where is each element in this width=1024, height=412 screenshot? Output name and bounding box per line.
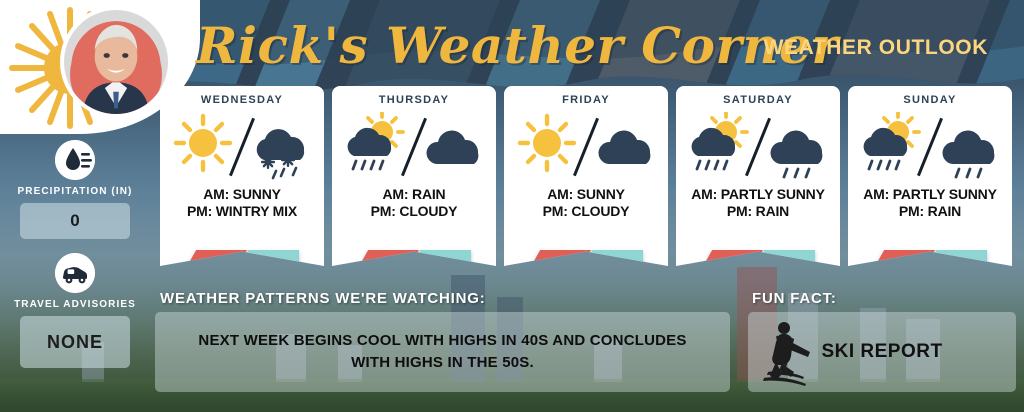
- sun-icon: [172, 112, 234, 174]
- condition-icons: [504, 108, 668, 184]
- travel-advisories-block: TRAVEL ADVISORIES NONE: [0, 253, 150, 368]
- rain-cloud-icon: [940, 126, 1002, 184]
- condition-pm: PM: CLOUDY: [332, 203, 496, 220]
- forecast-card[interactable]: SATURDAY: [676, 86, 840, 266]
- precipitation-value: 0: [20, 203, 130, 239]
- weather-graphic: Rick's Weather Corner WEATHER OUTLOOK PR…: [0, 0, 1024, 412]
- weather-patterns-panel: NEXT WEEK BEGINS COOL WITH HIGHS IN 40S …: [155, 312, 730, 392]
- condition-pm: PM: RAIN: [848, 203, 1012, 220]
- condition-text: AM: PARTLY SUNNY PM: RAIN: [676, 186, 840, 219]
- avatar: [60, 6, 172, 118]
- condition-icons: [332, 108, 496, 184]
- travel-advisories-value: NONE: [20, 316, 130, 368]
- cloud-icon: [424, 126, 486, 170]
- condition-icons: [160, 108, 324, 184]
- day-label: SATURDAY: [676, 94, 840, 106]
- condition-am: AM: SUNNY: [160, 186, 324, 203]
- water-drop-icon: [55, 140, 95, 180]
- snow-cloud-icon: [248, 126, 314, 182]
- day-label: SUNDAY: [848, 94, 1012, 106]
- fun-fact-text: SKI REPORT: [821, 341, 942, 363]
- travel-advisories-label: TRAVEL ADVISORIES: [0, 299, 150, 310]
- condition-pm: PM: RAIN: [676, 203, 840, 220]
- day-label: THURSDAY: [332, 94, 496, 106]
- condition-icons: [848, 108, 1012, 184]
- sun-icon: [516, 112, 578, 174]
- forecast-card[interactable]: THURSDAY: [332, 86, 496, 266]
- skier-icon: [758, 318, 832, 386]
- day-label: WEDNESDAY: [160, 94, 324, 106]
- forecast-card[interactable]: FRIDAY AM: SUNNY PM:: [504, 86, 668, 266]
- rain-cloud-icon: [768, 126, 830, 184]
- condition-text: AM: RAIN PM: CLOUDY: [332, 186, 496, 219]
- weather-outlook-label: WEATHER OUTLOOK: [764, 36, 988, 60]
- forecast-card[interactable]: WEDNESDAY: [160, 86, 324, 266]
- condition-icons: [676, 108, 840, 184]
- weather-patterns-heading: WEATHER PATTERNS WE'RE WATCHING:: [160, 290, 486, 307]
- cloud-icon: [596, 126, 658, 170]
- precipitation-label: PRECIPITATION (IN): [0, 186, 150, 197]
- condition-text: AM: PARTLY SUNNY PM: RAIN: [848, 186, 1012, 219]
- forecast-card[interactable]: SUNDAY: [848, 86, 1012, 266]
- weather-patterns-text: NEXT WEEK BEGINS COOL WITH HIGHS IN 40S …: [181, 330, 704, 374]
- condition-pm: PM: WINTRY MIX: [160, 203, 324, 220]
- fun-fact-heading: FUN FACT:: [752, 290, 837, 307]
- forecast-row: WEDNESDAY: [160, 86, 1024, 266]
- fun-fact-panel[interactable]: SKI REPORT: [748, 312, 1016, 392]
- precipitation-block: PRECIPITATION (IN) 0: [0, 140, 150, 239]
- condition-am: AM: PARTLY SUNNY: [848, 186, 1012, 203]
- condition-am: AM: SUNNY: [504, 186, 668, 203]
- condition-text: AM: SUNNY PM: CLOUDY: [504, 186, 668, 219]
- day-label: FRIDAY: [504, 94, 668, 106]
- condition-am: AM: RAIN: [332, 186, 496, 203]
- condition-pm: PM: CLOUDY: [504, 203, 668, 220]
- left-rail: PRECIPITATION (IN) 0 TRAVEL ADVISORIES N…: [0, 140, 150, 382]
- condition-am: AM: PARTLY SUNNY: [676, 186, 840, 203]
- anchor-portrait: [64, 10, 168, 114]
- car-icon: [55, 253, 95, 293]
- page-title: Rick's Weather Corner: [196, 16, 838, 75]
- condition-text: AM: SUNNY PM: WINTRY MIX: [160, 186, 324, 219]
